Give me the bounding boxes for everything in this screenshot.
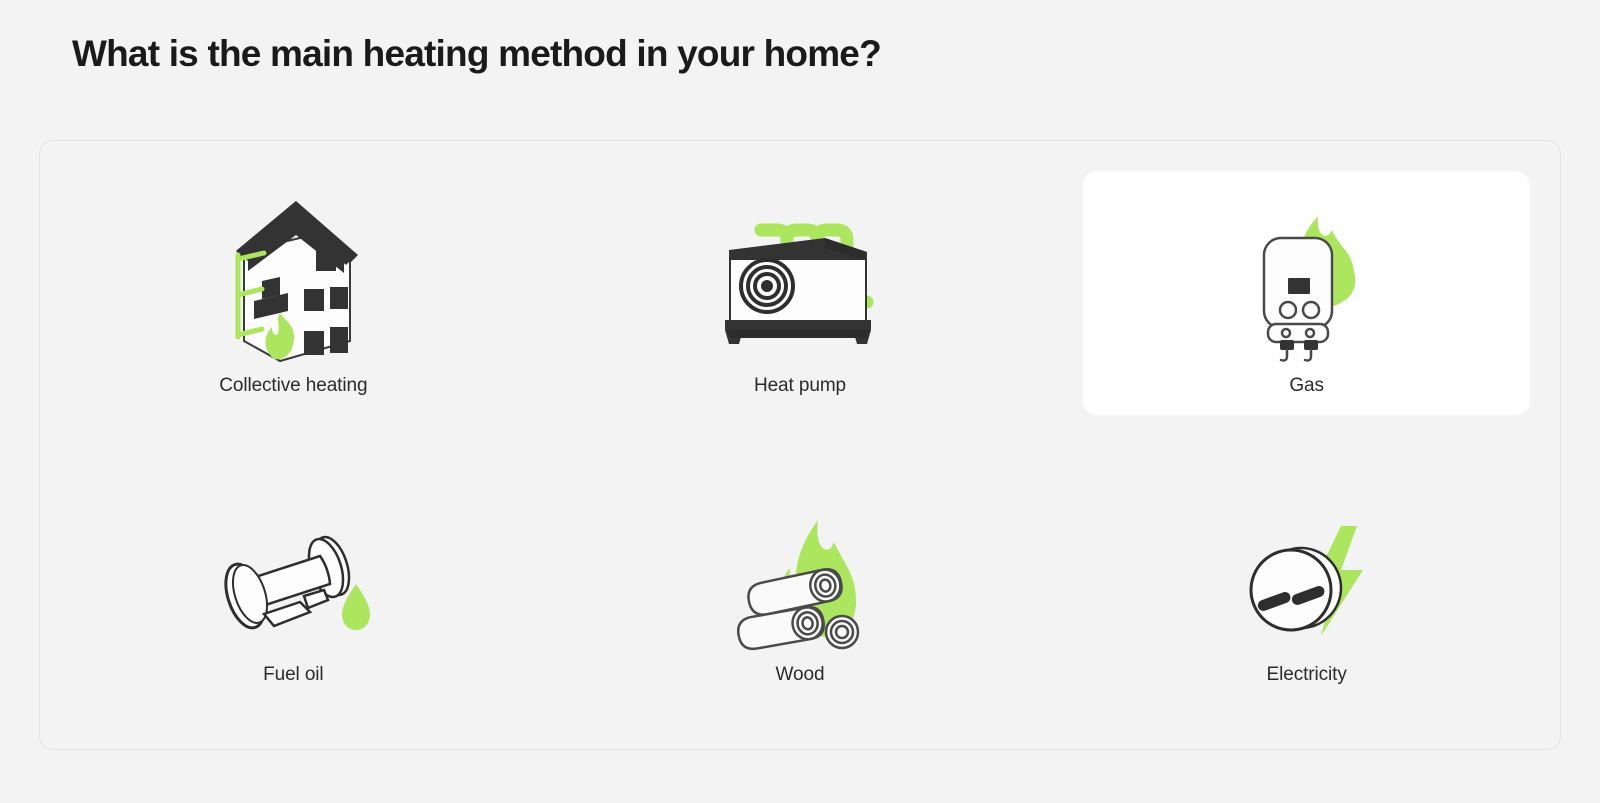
option-card-heat-pump[interactable]: Heat pump bbox=[577, 171, 1024, 415]
heat-pump-icon bbox=[710, 189, 890, 369]
plug-lightning-icon bbox=[1217, 508, 1397, 658]
house-with-flame-icon bbox=[203, 189, 383, 369]
option-card-collective-heating[interactable]: Collective heating bbox=[70, 171, 517, 415]
option-card-wood[interactable]: Wood bbox=[577, 475, 1024, 719]
wood-logs-flame-icon bbox=[710, 508, 890, 658]
option-label: Gas bbox=[1289, 375, 1324, 398]
options-panel: Collective heating bbox=[39, 140, 1561, 750]
gas-boiler-flame-icon bbox=[1217, 189, 1397, 369]
page-title: What is the main heating method in your … bbox=[72, 32, 881, 76]
option-label: Collective heating bbox=[219, 375, 367, 398]
option-label: Fuel oil bbox=[263, 664, 323, 687]
option-card-gas[interactable]: Gas bbox=[1083, 171, 1530, 415]
option-card-electricity[interactable]: Electricity bbox=[1083, 475, 1530, 719]
heating-method-question-page: What is the main heating method in your … bbox=[0, 0, 1600, 803]
oil-tank-droplet-icon bbox=[203, 508, 383, 658]
option-label: Electricity bbox=[1267, 664, 1347, 687]
option-card-fuel-oil[interactable]: Fuel oil bbox=[70, 475, 517, 719]
option-label: Heat pump bbox=[754, 375, 846, 398]
options-grid: Collective heating bbox=[40, 141, 1560, 749]
option-label: Wood bbox=[776, 664, 825, 687]
